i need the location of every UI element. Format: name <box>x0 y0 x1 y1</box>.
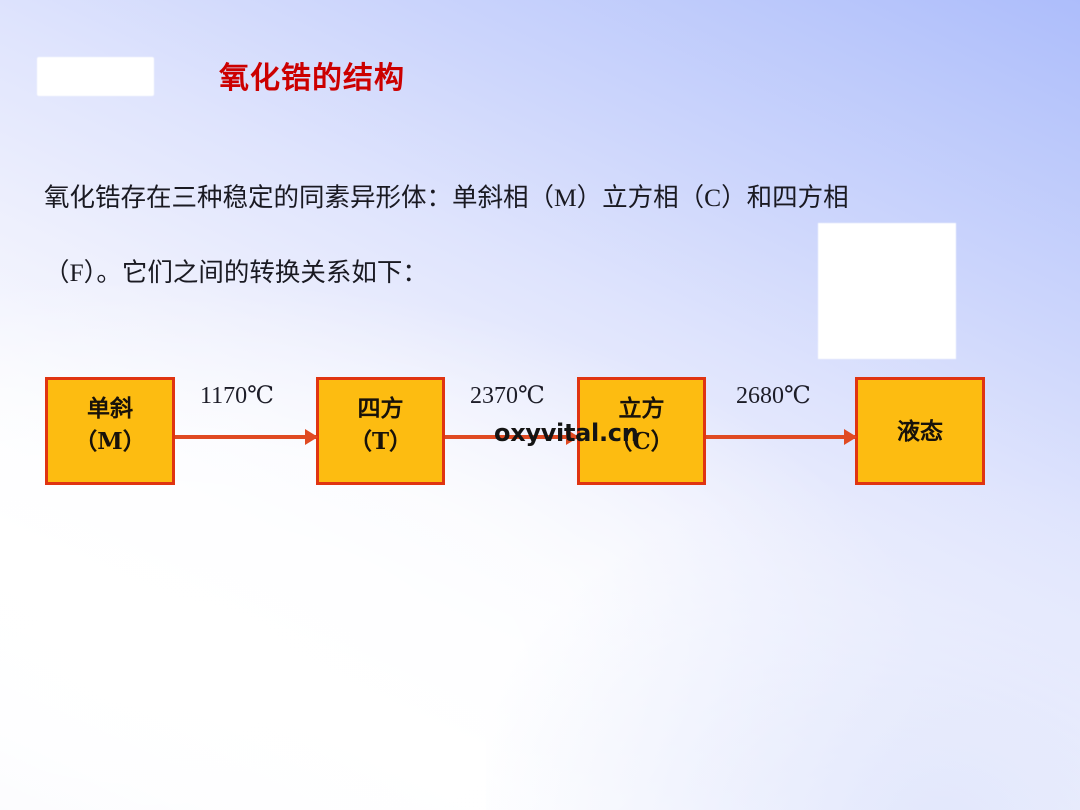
flow-arrow-1 <box>175 435 316 439</box>
transition-temp-1: 1170℃ <box>200 381 274 410</box>
flow-arrow-3 <box>706 435 855 439</box>
flow-node-monoclinic-line1: 单斜 <box>87 392 133 425</box>
flow-node-tetragonal: 四方 （T） <box>316 377 445 485</box>
flow-node-monoclinic: 单斜 （M） <box>45 377 175 485</box>
transition-temp-2: 2370℃ <box>470 381 545 410</box>
transition-temp-3: 2680℃ <box>736 381 811 410</box>
flow-node-tetragonal-line1: 四方 <box>358 392 404 425</box>
flow-node-monoclinic-line2: （M） <box>74 425 145 458</box>
flow-node-tetragonal-line2: （T） <box>349 425 412 458</box>
slide-canvas: 氧化锆的结构 氧化锆存在三种稳定的同素异形体：单斜相（M）立方相（C）和四方相 … <box>0 0 1080 810</box>
site-watermark: oxyvital.cn <box>494 419 639 447</box>
phase-transition-flowchart: 单斜 （M） 四方 （T） 立方 （C） 液态 1170℃ 2370℃ 2680… <box>0 0 1080 810</box>
flow-node-liquid-line1: 液态 <box>897 415 943 448</box>
flow-node-liquid: 液态 <box>855 377 985 485</box>
